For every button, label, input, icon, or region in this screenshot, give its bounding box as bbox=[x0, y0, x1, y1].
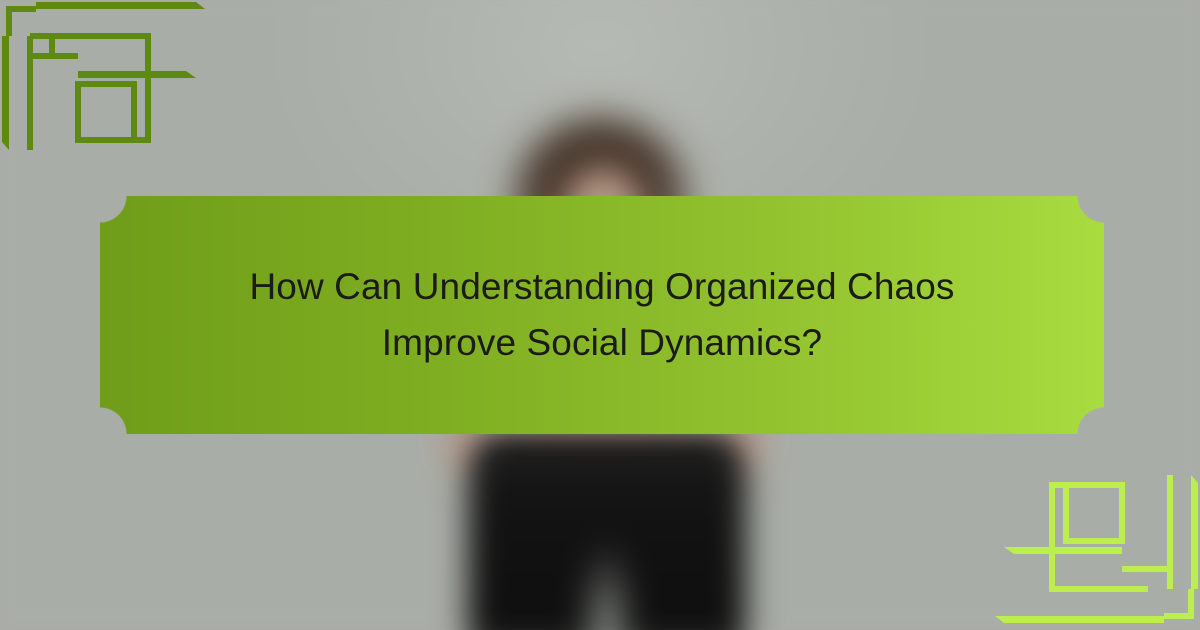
corner-ornament-bottom-right bbox=[990, 435, 1200, 630]
corner-ornament-top-left bbox=[0, 0, 210, 195]
corner-ornament-bottom-right-icon bbox=[990, 435, 1200, 625]
title-banner: How Can Understanding Organized Chaos Im… bbox=[100, 196, 1104, 434]
social-card-canvas: How Can Understanding Organized Chaos Im… bbox=[0, 0, 1200, 630]
banner-title-text: How Can Understanding Organized Chaos Im… bbox=[100, 259, 1104, 371]
corner-ornament-top-left-icon bbox=[0, 0, 210, 190]
